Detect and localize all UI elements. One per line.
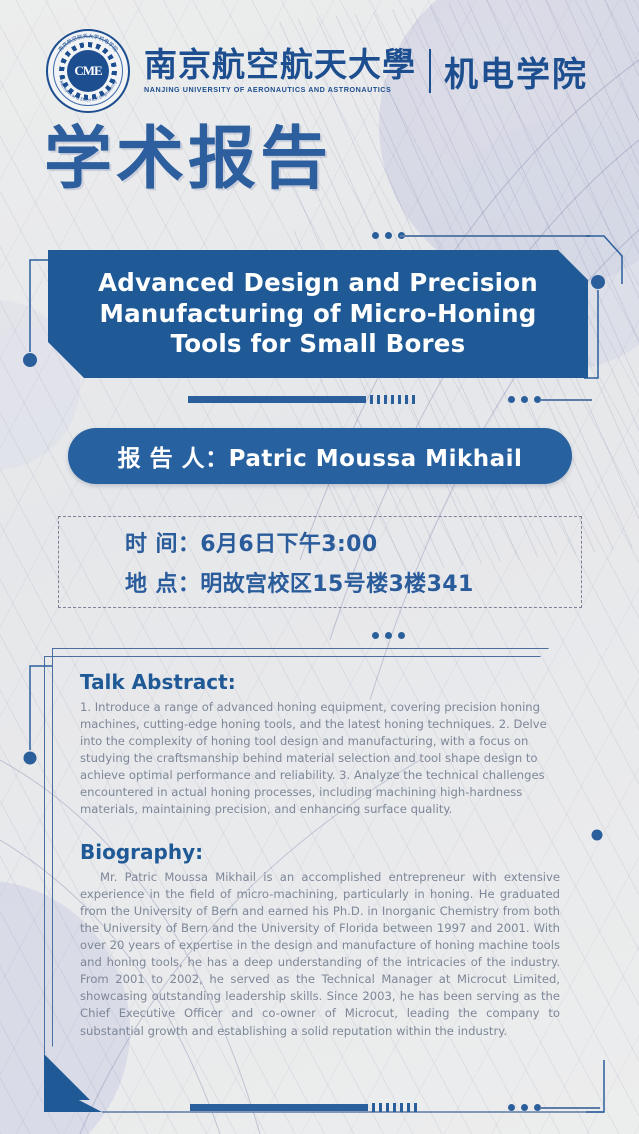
emblem-arc-text: 南京航空航天大学机电学院 Mechanical & Electrical Eng… bbox=[47, 30, 129, 112]
page-title: 学术报告 bbox=[44, 126, 332, 194]
header-divider bbox=[429, 49, 431, 93]
svg-text:Mechanical & Electrical Engine: Mechanical & Electrical Engineering bbox=[59, 79, 118, 102]
talk-title-text: Advanced Design and Precision Manufactur… bbox=[48, 268, 588, 361]
deco-line-top bbox=[400, 235, 590, 237]
event-time: 时 间：6月6日下午3:00 bbox=[125, 526, 581, 558]
deco-bar-bottom bbox=[188, 396, 366, 403]
deco-line-footer bbox=[540, 1107, 600, 1109]
talk-title-zone: Advanced Design and Precision Manufactur… bbox=[0, 228, 639, 410]
event-location: 地 点：明故宫校区15号楼3楼341 bbox=[125, 566, 581, 598]
biography-heading: Biography: bbox=[80, 840, 560, 864]
university-wordmark: 南京航空航天大學 NANJING UNIVERSITY OF AERONAUTI… bbox=[144, 47, 588, 96]
deco-bracket-right bbox=[584, 262, 628, 392]
deco-ticks-footer bbox=[372, 1103, 417, 1112]
university-emblem-icon: CME 南京航空航天大学机电学院 Mechanical & Electrical… bbox=[46, 29, 130, 113]
university-name-cn: 南京航空航天大學 bbox=[144, 48, 416, 81]
poster-header: CME 南京航空航天大学机电学院 Mechanical & Electrical… bbox=[0, 28, 639, 114]
deco-dots-content-top bbox=[372, 632, 405, 639]
content-body: Talk Abstract: 1. Introduce a range of a… bbox=[80, 670, 560, 1040]
poster-canvas: CME 南京航空航天大学机电学院 Mechanical & Electrical… bbox=[0, 0, 639, 1134]
content-frame: Talk Abstract: 1. Introduce a range of a… bbox=[44, 648, 596, 1100]
section-gap bbox=[80, 818, 560, 840]
college-name: 机电学院 bbox=[444, 47, 588, 96]
event-info-box: 时 间：6月6日下午3:00 地 点：明故宫校区15号楼3楼341 bbox=[58, 516, 582, 608]
talk-title-banner: Advanced Design and Precision Manufactur… bbox=[48, 250, 588, 378]
deco-ticks-bottom bbox=[370, 395, 415, 404]
deco-line-bottom bbox=[540, 399, 592, 401]
deco-elbow-bottom-right bbox=[560, 1060, 620, 1130]
speaker-badge: 报 告 人：Patric Moussa Mikhail bbox=[68, 428, 572, 484]
abstract-text: 1. Introduce a range of advanced honing … bbox=[80, 699, 560, 818]
deco-bracket-content-left bbox=[8, 662, 56, 772]
deco-dots-bottom bbox=[508, 396, 541, 403]
deco-dot-content-right bbox=[588, 824, 610, 846]
speaker-name: 报 告 人：Patric Moussa Mikhail bbox=[118, 439, 523, 473]
abstract-heading: Talk Abstract: bbox=[80, 670, 560, 694]
deco-bar-footer bbox=[190, 1104, 368, 1111]
biography-text: Mr. Patric Moussa Mikhail is an accompli… bbox=[80, 869, 560, 1039]
deco-dots-footer bbox=[508, 1104, 541, 1111]
university-name-en: NANJING UNIVERSITY OF AERONAUTICS AND AS… bbox=[144, 85, 416, 94]
